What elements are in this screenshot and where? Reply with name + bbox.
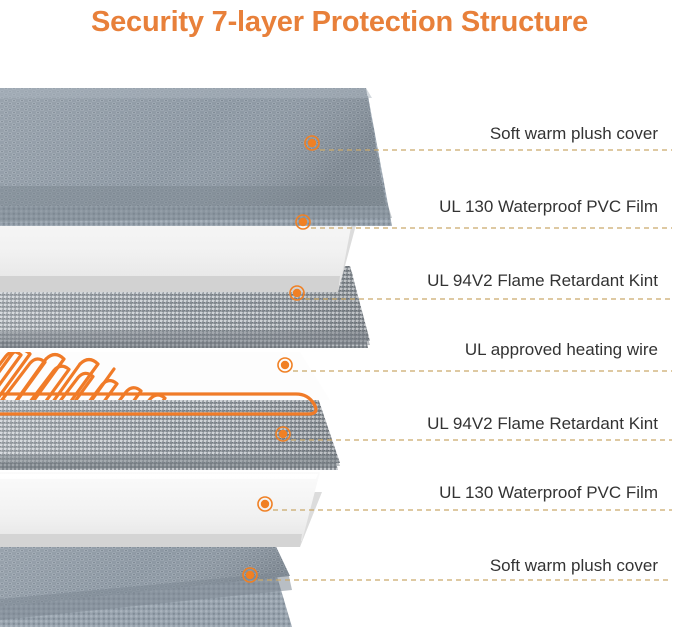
layer-label-1: Soft warm plush cover [490, 124, 658, 144]
infographic-canvas: Security 7-layer Protection Structure [0, 0, 679, 627]
connector-dot-2 [299, 218, 307, 226]
layer-5-flame-retardant-knit [0, 398, 340, 470]
connector-dot-3 [293, 289, 301, 297]
layer-label-6: UL 130 Waterproof PVC Film [439, 483, 658, 503]
layer-label-5: UL 94V2 Flame Retardant Kint [427, 414, 658, 434]
layer-1-plush [0, 88, 392, 226]
layer-label-3: UL 94V2 Flame Retardant Kint [427, 271, 658, 291]
connector-dot-6 [261, 500, 269, 508]
connector-dot-7 [246, 571, 254, 579]
connector-dot-5 [279, 430, 287, 438]
layer-label-7: Soft warm plush cover [490, 556, 658, 576]
layer-label-4: UL approved heating wire [465, 340, 658, 360]
connector-dot-4 [281, 361, 289, 369]
layer-label-2: UL 130 Waterproof PVC Film [439, 197, 658, 217]
connector-dot-1 [308, 139, 316, 147]
layer-stack-diagram [0, 0, 679, 627]
